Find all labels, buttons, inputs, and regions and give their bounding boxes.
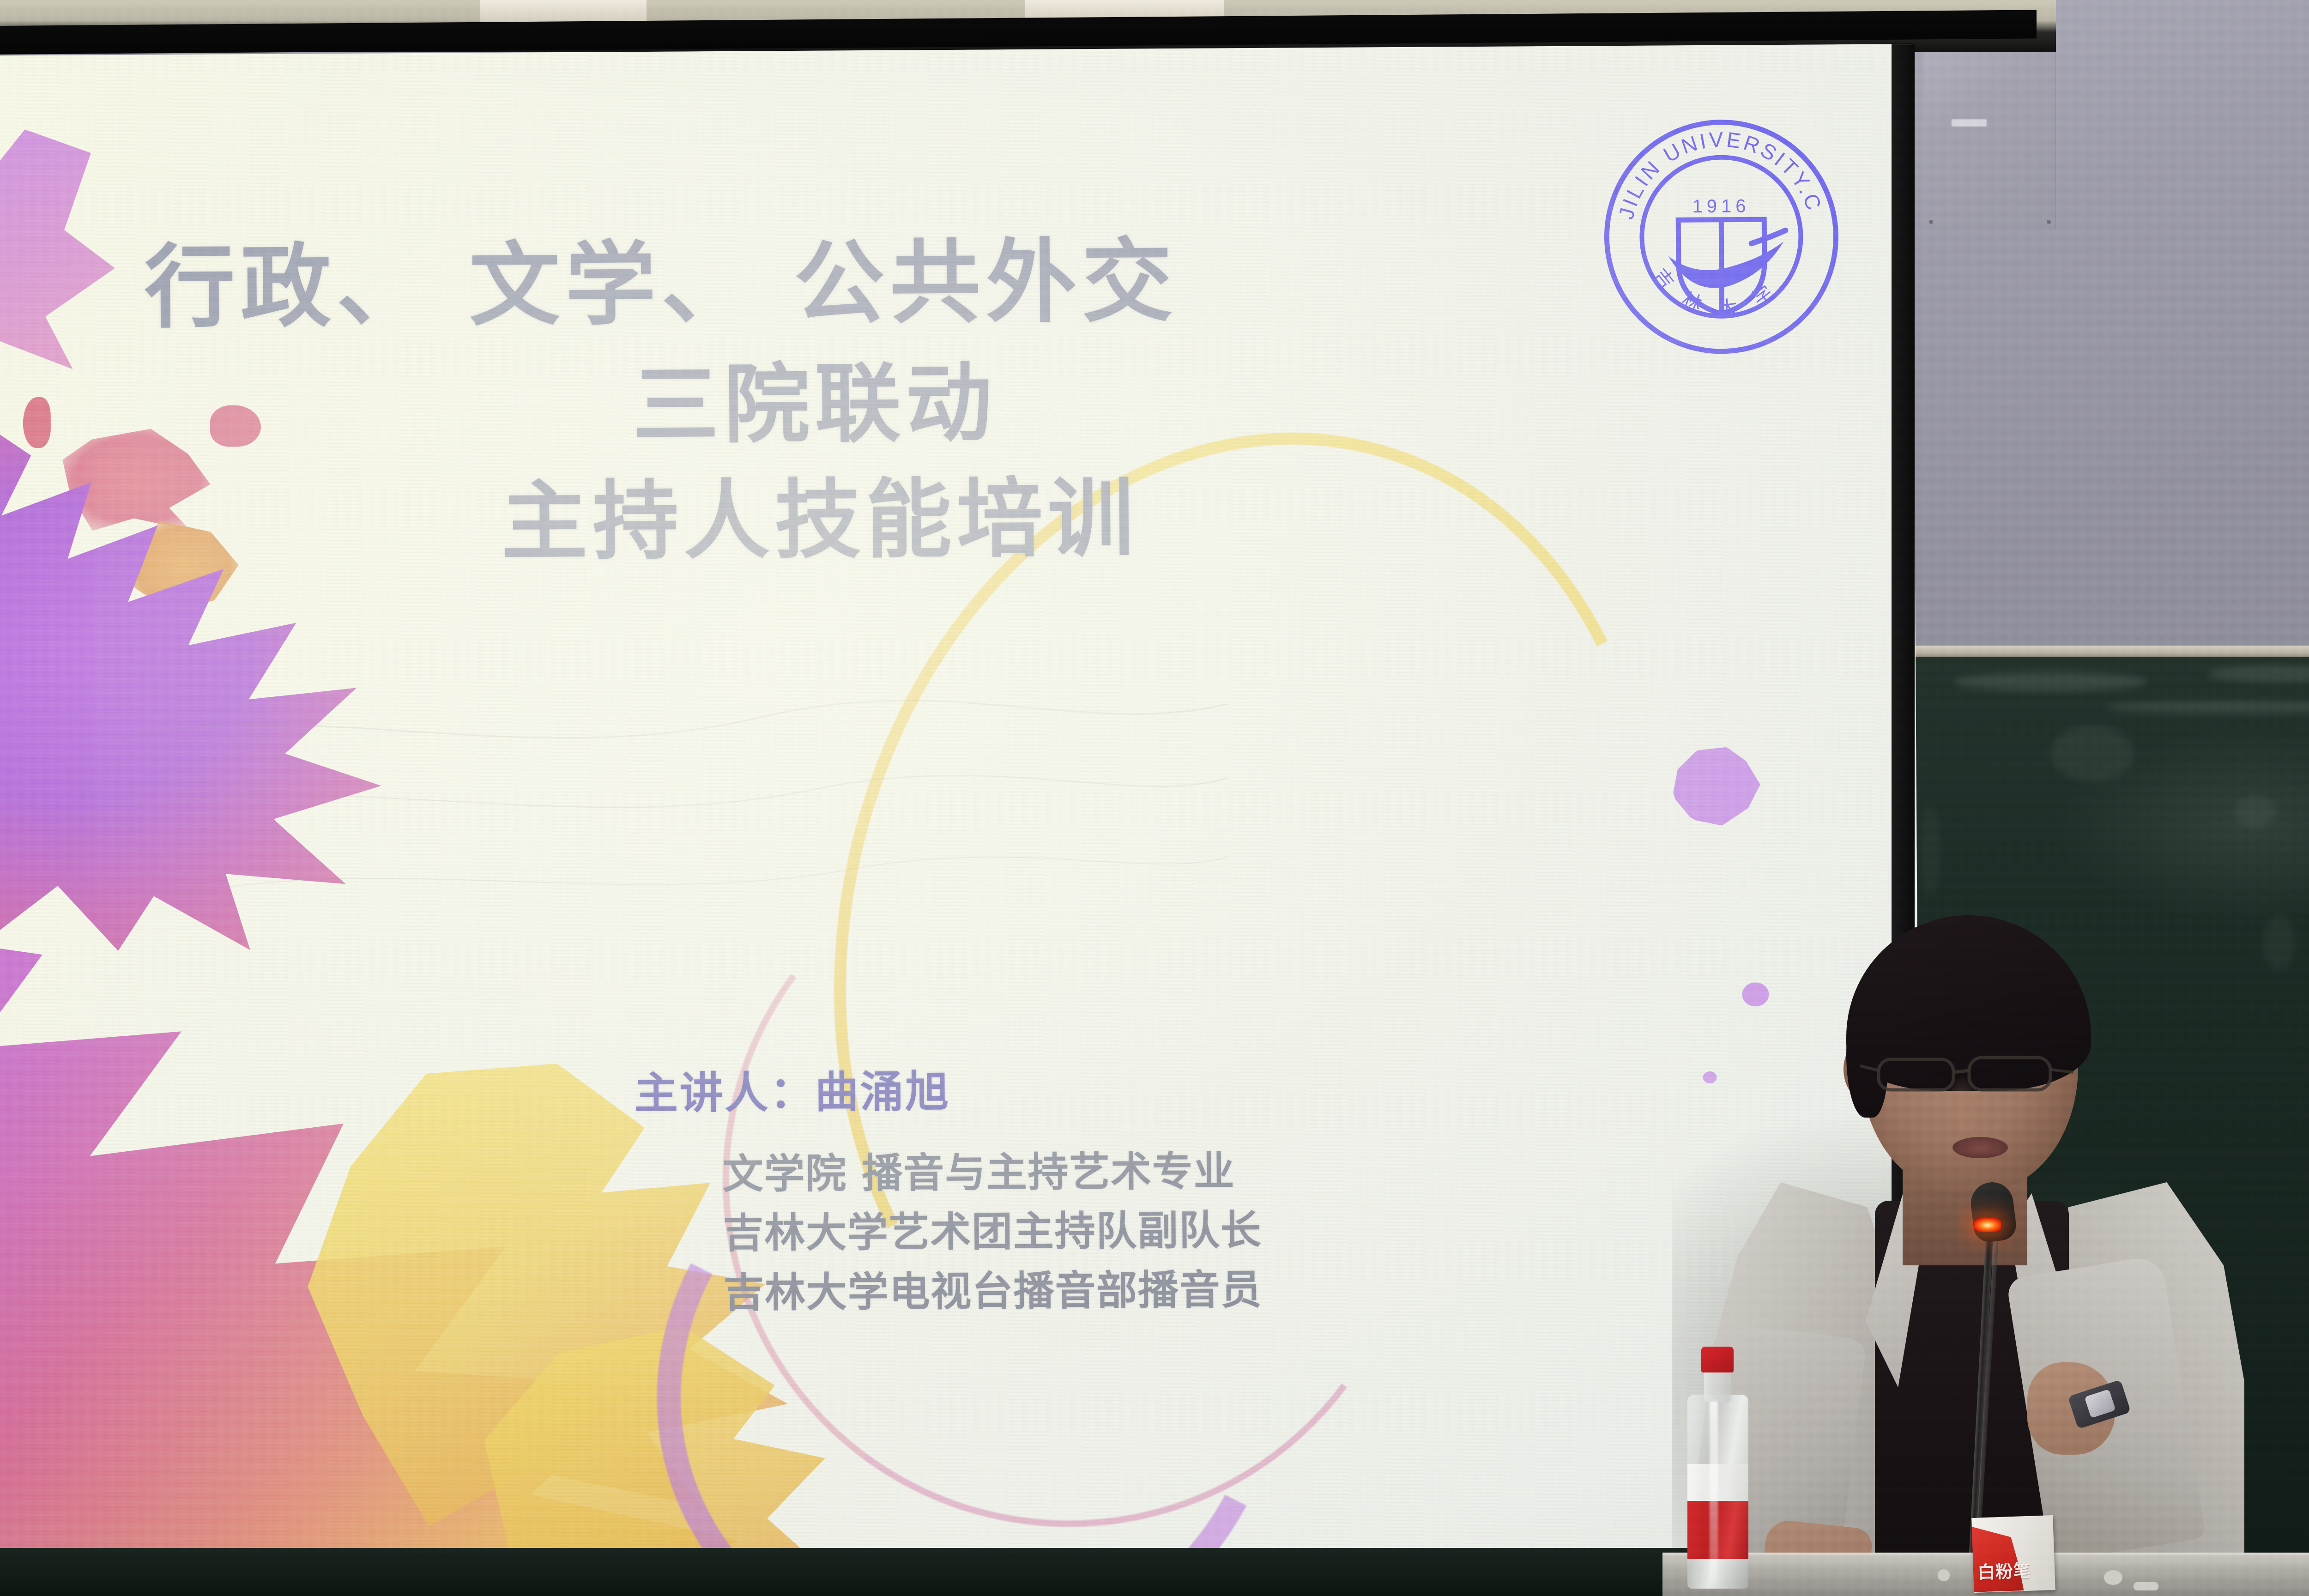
water-bottle-label xyxy=(1687,1501,1748,1559)
desk-debris-a xyxy=(1938,1569,1950,1581)
artwork-pink-arc xyxy=(676,787,1462,1573)
water-bottle-cap[interactable] xyxy=(1701,1347,1734,1372)
svg-text:吉 林 大 学: 吉 林 大 学 xyxy=(1649,263,1783,321)
slide-title-line-2: 三院联动 xyxy=(0,347,1623,462)
photo-scene: JILIN UNIVERSITY.C 吉 林 大 学 1916 行政、 文学、 … xyxy=(0,0,2309,1596)
plate-slot xyxy=(1952,119,1987,127)
jilin-university-seal: JILIN UNIVERSITY.C 吉 林 大 学 1916 xyxy=(1598,114,1844,360)
screen-bottom-frame xyxy=(0,1548,1916,1596)
artwork-yellow-brush-b xyxy=(484,1325,901,1575)
artwork-orange-splash xyxy=(127,520,239,613)
seal-outer-text: JILIN UNIVERSITY.C xyxy=(1613,127,1827,222)
slide-text-layer: 行政、 文学、 公共外交 三院联动 主持人技能培训 主讲人：曲涌旭 文学院 播音… xyxy=(0,44,1921,1575)
wall-ledge xyxy=(1912,646,2309,658)
screen-right-frame xyxy=(1892,44,1915,1571)
desk-debris-c xyxy=(2134,1582,2158,1590)
speaker-credentials-list: 文学院 播音与主持艺术专业 吉林大学艺术团主持队副队长 吉林大学电视台播音部播音… xyxy=(635,1139,1744,1324)
artwork-pink-dot xyxy=(210,405,261,447)
blackboard xyxy=(1912,657,2309,1596)
artwork-red-dot xyxy=(23,397,51,448)
speaker-name-line: 主讲人：曲涌旭 xyxy=(634,1052,1743,1122)
seal-chinese-text: 吉 林 大 学 xyxy=(1649,263,1783,321)
artwork-purple-splash xyxy=(0,404,430,953)
desk-debris-b xyxy=(2104,1570,2122,1585)
water-bottle-highlight xyxy=(1710,1399,1718,1584)
speaker-credential-3: 吉林大学电视台播音部播音员 xyxy=(723,1257,1744,1323)
artwork-lavender-dot-c xyxy=(1703,1071,1717,1083)
artwork-yellow-brush-a xyxy=(306,1062,854,1527)
slide-title-line-3: 主持人技能培训 xyxy=(0,463,1624,578)
speaker-credential-1: 文学院 播音与主持艺术专业 xyxy=(722,1139,1743,1204)
svg-text:JILIN UNIVERSITY.C: JILIN UNIVERSITY.C xyxy=(1613,127,1827,222)
water-bottle-label-white xyxy=(1687,1464,1748,1502)
seal-year: 1916 xyxy=(1692,196,1750,217)
slide-speaker-block: 主讲人：曲涌旭 文学院 播音与主持艺术专业 吉林大学艺术团主持队副队长 吉林大学… xyxy=(634,1052,1744,1324)
slide-title-line-1: 行政、 文学、 公共外交 xyxy=(0,224,1623,345)
screen-vignette xyxy=(0,44,1921,1575)
artwork-lavender-dot-b xyxy=(1742,982,1769,1006)
artwork-purple-arc xyxy=(579,1010,1359,1575)
chalk-box-label: 白粉笔 xyxy=(1977,1556,2038,1584)
artwork-purple-streak xyxy=(0,129,154,370)
slide-title-block: 行政、 文学、 公共外交 三院联动 主持人技能培训 xyxy=(0,224,1624,578)
artwork-pink-splash xyxy=(62,429,211,531)
artwork-lavender-blob xyxy=(1672,747,1760,826)
microphone-status-led[interactable] xyxy=(1974,1218,2001,1232)
screen-creases xyxy=(119,648,1229,979)
screen-fabric-grain xyxy=(0,44,1921,1575)
projection-screen: JILIN UNIVERSITY.C 吉 林 大 学 1916 行政、 文学、 … xyxy=(0,44,1921,1575)
speaker-credential-2: 吉林大学艺术团主持队副队长 xyxy=(723,1198,1744,1263)
artwork-gradient-brush xyxy=(0,919,901,1575)
artwork-yellow-arc xyxy=(726,340,1769,1529)
